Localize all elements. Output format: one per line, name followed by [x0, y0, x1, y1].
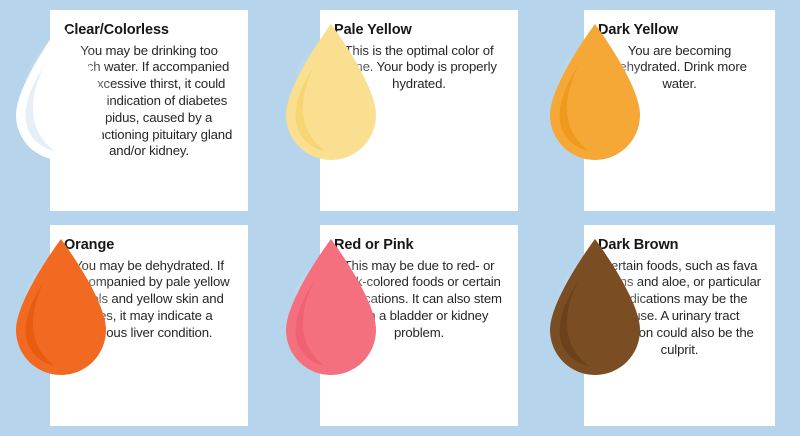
urine-color-chart-infographic: Clear/Colorless You may be drinking too … — [0, 0, 800, 436]
drop-halo — [4, 18, 134, 168]
drop-halo — [4, 233, 134, 383]
drop-halo — [274, 233, 404, 383]
card-cell-clear-colorless: Clear/Colorless You may be drinking too … — [0, 0, 266, 213]
card-cell-red-or-pink: Red or Pink This may be due to red- or d… — [266, 223, 532, 436]
card-cell-pale-yellow: Pale Yellow This is the optimal color of… — [266, 0, 532, 213]
card-grid: Clear/Colorless You may be drinking too … — [0, 0, 800, 436]
card-cell-orange: Orange You may be dehydrated. If accompa… — [0, 223, 266, 436]
card-cell-dark-yellow: Dark Yellow You are becoming dehydrated.… — [532, 0, 800, 213]
drop-halo — [274, 18, 404, 168]
card-cell-dark-brown: Dark Brown Certain foods, such as fava b… — [532, 223, 800, 436]
drop-halo — [538, 18, 668, 168]
drop-halo — [538, 233, 668, 383]
